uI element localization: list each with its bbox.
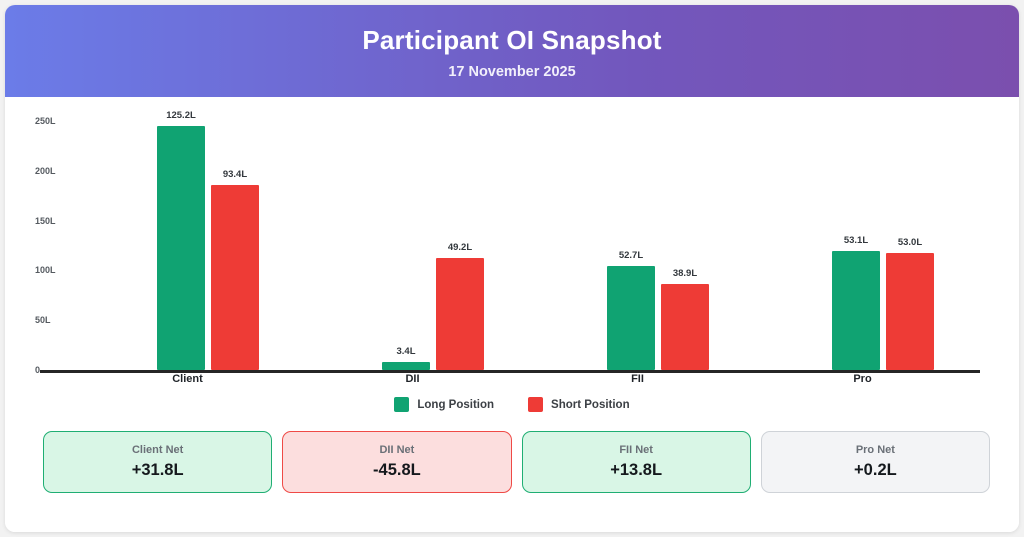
- bar-group-pro: 53.1L53.0LPro: [750, 111, 975, 370]
- net-card-value: +13.8L: [610, 461, 662, 480]
- legend-swatch-icon: [528, 397, 543, 412]
- bar-wrapper: 53.0L: [886, 253, 934, 370]
- bar-dii-long[interactable]: [382, 362, 430, 370]
- bar-wrapper: 53.1L: [832, 251, 880, 370]
- bars: 53.1L53.0L: [750, 111, 975, 370]
- legend-item[interactable]: Short Position: [528, 397, 630, 412]
- bar-wrapper: 49.2L: [436, 258, 484, 370]
- bar-value-label: 53.0L: [898, 237, 922, 248]
- net-card-title: Pro Net: [856, 444, 895, 456]
- page-title: Participant OI Snapshot: [5, 25, 1019, 56]
- y-axis-tick: 200L: [35, 166, 67, 176]
- bar-value-label: 38.9L: [673, 268, 697, 279]
- x-axis-category-label: FII: [525, 373, 750, 385]
- bar-fii-long[interactable]: [607, 266, 655, 370]
- bar-value-label: 49.2L: [448, 242, 472, 253]
- bar-pro-short[interactable]: [886, 253, 934, 370]
- net-cards-row: Client Net+31.8LDII Net-45.8LFII Net+13.…: [43, 431, 990, 493]
- legend-label: Short Position: [551, 399, 630, 411]
- bars: 3.4L49.2L: [300, 111, 525, 370]
- net-card-value: -45.8L: [373, 461, 421, 480]
- bar-groups: 125.2L93.4LClient3.4L49.2LDII52.7L38.9LF…: [75, 111, 975, 370]
- bar-wrapper: 38.9L: [661, 284, 709, 370]
- oi-snapshot-card: Participant OI Snapshot 17 November 2025…: [5, 5, 1019, 532]
- bar-dii-short[interactable]: [436, 258, 484, 370]
- x-axis-line: [40, 370, 980, 373]
- bar-value-label: 125.2L: [166, 110, 196, 121]
- net-card-fii-net[interactable]: FII Net+13.8L: [522, 431, 751, 493]
- bar-value-label: 93.4L: [223, 169, 247, 180]
- y-axis-tick: 150L: [35, 216, 67, 226]
- bar-fii-short[interactable]: [661, 284, 709, 370]
- bar-chart: 050L100L150L200L250L 125.2L93.4LClient3.…: [35, 111, 980, 373]
- page-header: Participant OI Snapshot 17 November 2025: [5, 5, 1019, 97]
- net-card-client-net[interactable]: Client Net+31.8L: [43, 431, 272, 493]
- bar-client-short[interactable]: [211, 185, 259, 370]
- x-axis-category-label: DII: [300, 373, 525, 385]
- net-card-value: +31.8L: [132, 461, 184, 480]
- bar-value-label: 53.1L: [844, 235, 868, 246]
- net-card-value: +0.2L: [854, 461, 897, 480]
- net-card-title: DII Net: [379, 444, 414, 456]
- bars: 125.2L93.4L: [75, 111, 300, 370]
- bar-wrapper: 52.7L: [607, 266, 655, 370]
- chart-legend: Long PositionShort Position: [5, 397, 1019, 412]
- bar-client-long[interactable]: [157, 126, 205, 370]
- y-axis-tick: 100L: [35, 265, 67, 275]
- bar-group-fii: 52.7L38.9LFII: [525, 111, 750, 370]
- legend-label: Long Position: [417, 399, 494, 411]
- bars: 52.7L38.9L: [525, 111, 750, 370]
- bar-wrapper: 93.4L: [211, 185, 259, 370]
- x-axis-category-label: Client: [75, 373, 300, 385]
- x-axis-category-label: Pro: [750, 373, 975, 385]
- bar-wrapper: 125.2L: [157, 126, 205, 370]
- bar-wrapper: 3.4L: [382, 362, 430, 370]
- net-card-title: Client Net: [132, 444, 183, 456]
- chart-area: 050L100L150L200L250L 125.2L93.4LClient3.…: [5, 97, 1019, 532]
- y-axis-tick: 250L: [35, 116, 67, 126]
- bar-pro-long[interactable]: [832, 251, 880, 370]
- bar-value-label: 3.4L: [396, 346, 415, 357]
- legend-swatch-icon: [394, 397, 409, 412]
- bar-group-dii: 3.4L49.2LDII: [300, 111, 525, 370]
- bar-value-label: 52.7L: [619, 250, 643, 261]
- legend-item[interactable]: Long Position: [394, 397, 494, 412]
- bar-group-client: 125.2L93.4LClient: [75, 111, 300, 370]
- net-card-pro-net[interactable]: Pro Net+0.2L: [761, 431, 990, 493]
- y-axis-tick: 50L: [35, 315, 67, 325]
- page-date: 17 November 2025: [5, 64, 1019, 80]
- net-card-dii-net[interactable]: DII Net-45.8L: [282, 431, 511, 493]
- net-card-title: FII Net: [619, 444, 653, 456]
